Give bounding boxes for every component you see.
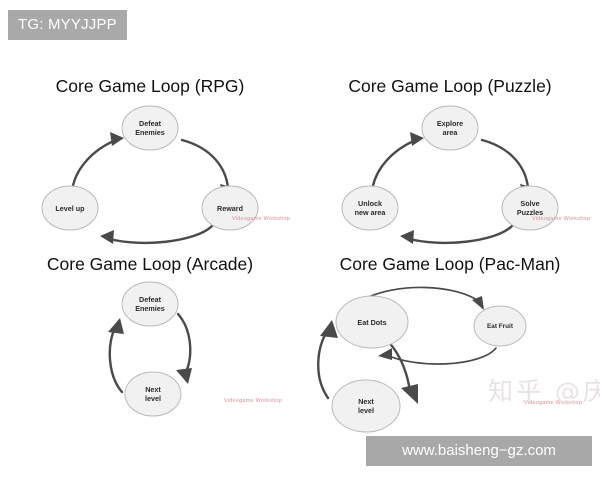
workshop-watermark: Videogame Workshop [232, 216, 290, 222]
diagram-panel-pacman: Core Game Loop (Pac-Man) [300, 248, 600, 448]
node-label-line1: Eat Fruit [487, 323, 514, 330]
node-eat-dots[interactable]: Eat Dots [336, 296, 408, 348]
node-label-line2: level [145, 394, 161, 403]
node-label-line1: Unlock [358, 199, 382, 208]
node-eat-fruit[interactable]: Eat Fruit [474, 306, 526, 346]
node-reward[interactable]: Reward [202, 186, 258, 230]
node-next-level[interactable]: Next level [125, 372, 181, 416]
edge-unlock-to-explore [372, 132, 424, 192]
diagram-panel-puzzle: Core Game Loop (Puzzle) Explore area [300, 70, 600, 270]
node-label-line2: new area [355, 208, 387, 217]
node-label-line2: Enemies [135, 304, 165, 313]
diagram-svg-pacman: Eat Dots Eat Fruit Next level [300, 274, 600, 448]
node-label-line2: area [443, 128, 459, 137]
edge-next-to-defeat [108, 318, 124, 392]
node-label-line1: Next [145, 385, 161, 394]
diagram-panel-arcade: Core Game Loop (Arcade) Defeat Enemies N… [0, 248, 300, 448]
node-label-line1: Defeat [139, 295, 162, 304]
node-label-line2: level [358, 406, 374, 415]
zhihu-watermark: 知乎 @庆亮 [488, 372, 600, 408]
edge-solve-to-unlock [400, 226, 512, 244]
node-defeat-enemies[interactable]: Defeat Enemies [122, 106, 178, 150]
edge-next-to-eatdots [318, 320, 338, 398]
panel-title-arcade: Core Game Loop (Arcade) [0, 254, 300, 275]
panel-title-puzzle: Core Game Loop (Puzzle) [300, 76, 600, 97]
edge-levelup-to-defeat [72, 132, 124, 192]
node-unlock-new-area[interactable]: Unlock new area [342, 186, 398, 230]
node-label-line1: Solve [520, 199, 539, 208]
site-url-badge: www.baisheng−gz.com [366, 436, 592, 466]
node-label-line1: Next [358, 397, 374, 406]
node-level-up[interactable]: Level up [42, 186, 98, 230]
node-label-line1: Eat Dots [357, 318, 386, 327]
diagram-panel-rpg: Core Game Loop (RPG) Defeat Enemies [0, 70, 300, 270]
workshop-watermark: Videogame Workshop [532, 216, 590, 222]
node-label-line1: Explore [437, 119, 463, 128]
diagram-svg-rpg: Defeat Enemies Reward Level up [0, 96, 300, 270]
telegram-handle-badge: TG: MYYJJPP [8, 10, 127, 40]
node-label-line1: Level up [55, 204, 85, 213]
node-label-line1: Defeat [139, 119, 162, 128]
edge-reward-to-levelup [100, 226, 212, 244]
diagram-svg-puzzle: Explore area Solve Puzzles Unlock new ar… [300, 96, 600, 270]
diagram-canvas: TG: MYYJJPP Core Game Loop (RPG) Defeat [0, 0, 600, 480]
node-solve-puzzles[interactable]: Solve Puzzles [502, 186, 558, 230]
edge-defeat-to-next [176, 314, 192, 384]
diagram-svg-arcade: Defeat Enemies Next level [0, 274, 300, 448]
node-label-line2: Enemies [135, 128, 165, 137]
panel-title-rpg: Core Game Loop (RPG) [0, 76, 300, 97]
workshop-watermark: Videogame Workshop [224, 398, 282, 404]
node-label-line1: Reward [217, 204, 243, 213]
node-defeat-enemies[interactable]: Defeat Enemies [122, 282, 178, 326]
node-explore-area[interactable]: Explore area [422, 106, 478, 150]
node-next-level[interactable]: Next level [332, 380, 400, 432]
panel-title-pacman: Core Game Loop (Pac-Man) [300, 254, 600, 275]
